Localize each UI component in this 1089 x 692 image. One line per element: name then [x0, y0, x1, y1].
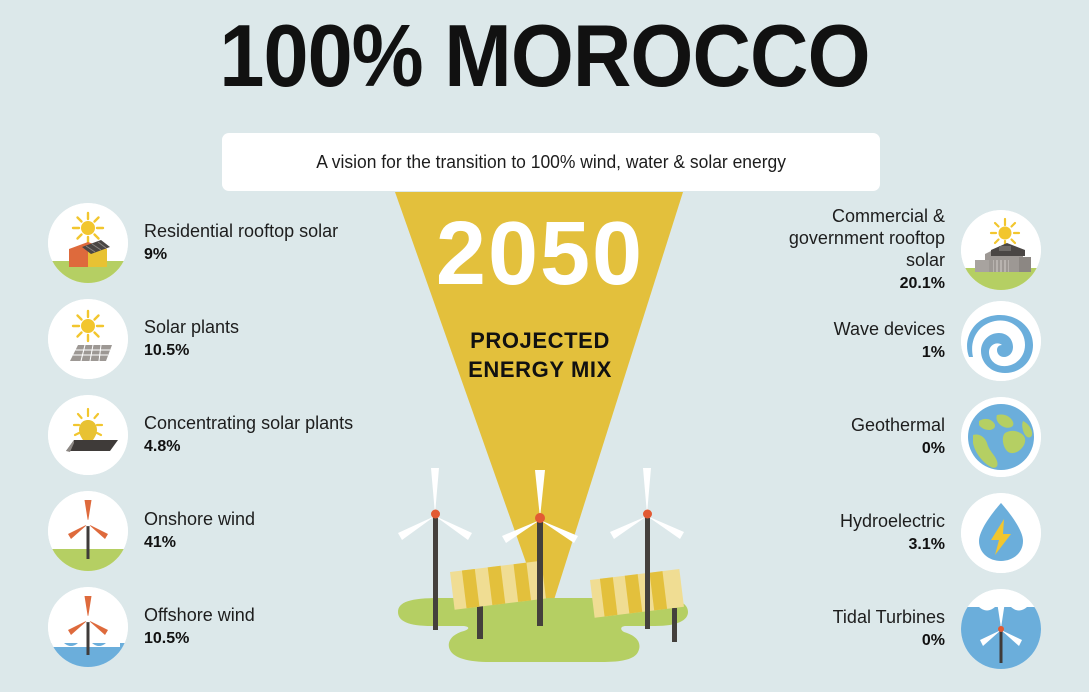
- infographic-root: 100% MOROCCO A vision for the transition…: [0, 0, 1089, 687]
- page-title: 100% MOROCCO: [44, 8, 1046, 104]
- list-item-value: 41%: [144, 532, 176, 554]
- list-item-value: 20.1%: [900, 273, 945, 295]
- list-item[interactable]: Solar plants 10.5%: [48, 299, 239, 379]
- list-item-value: 9%: [144, 244, 167, 266]
- subtitle-box: A vision for the transition to 100% wind…: [222, 133, 880, 191]
- tidal-turbines-icon: [961, 589, 1041, 669]
- concentrating-solar-plants-icon: [48, 395, 128, 475]
- list-item[interactable]: Commercial & government rooftop solar 20…: [755, 205, 1041, 295]
- commercial-rooftop-solar-icon: [961, 210, 1041, 290]
- list-item-label: Tidal Turbines: [833, 606, 945, 628]
- list-item-value: 0%: [922, 438, 945, 460]
- list-item[interactable]: Hydroelectric 3.1%: [840, 493, 1041, 573]
- residential-rooftop-solar-icon: [48, 203, 128, 283]
- list-item-label: Offshore wind: [144, 604, 255, 626]
- list-item-value: 0%: [922, 630, 945, 652]
- hydroelectric-icon: [961, 493, 1041, 573]
- list-item[interactable]: Geothermal 0%: [851, 397, 1041, 477]
- energy-mix-caption-line1: PROJECTED: [390, 328, 690, 354]
- offshore-wind-icon: [48, 587, 128, 667]
- onshore-wind-icon: [48, 491, 128, 571]
- list-item-value: 3.1%: [909, 534, 945, 556]
- list-item[interactable]: Offshore wind 10.5%: [48, 587, 255, 667]
- list-item[interactable]: Wave devices 1%: [834, 301, 1041, 381]
- list-item-label: Residential rooftop solar: [144, 220, 338, 242]
- year-label: 2050: [390, 206, 690, 302]
- list-item[interactable]: Tidal Turbines 0%: [833, 589, 1041, 669]
- list-item-label: Commercial & government rooftop solar: [755, 205, 945, 271]
- energy-mix-caption-line2: ENERGY MIX: [390, 357, 690, 383]
- solar-panel-left-post: [477, 603, 483, 639]
- list-item[interactable]: Onshore wind 41%: [48, 491, 255, 571]
- list-item-value: 10.5%: [144, 628, 189, 650]
- geothermal-icon: [961, 397, 1041, 477]
- list-item-label: Onshore wind: [144, 508, 255, 530]
- list-item-label: Wave devices: [834, 318, 945, 340]
- solar-plants-icon: [48, 299, 128, 379]
- list-item-value: 4.8%: [144, 436, 180, 458]
- subtitle-text: A vision for the transition to 100% wind…: [316, 152, 786, 173]
- list-item-value: 10.5%: [144, 340, 189, 362]
- wave-devices-icon: [961, 301, 1041, 381]
- list-item-label: Solar plants: [144, 316, 239, 338]
- list-item-label: Hydroelectric: [840, 510, 945, 532]
- list-item-value: 1%: [922, 342, 945, 364]
- list-item-label: Concentrating solar plants: [144, 412, 353, 434]
- wind-farm-scene: [380, 440, 710, 687]
- list-item[interactable]: Concentrating solar plants 4.8%: [48, 395, 353, 475]
- list-item-label: Geothermal: [851, 414, 945, 436]
- list-item[interactable]: Residential rooftop solar 9%: [48, 203, 338, 283]
